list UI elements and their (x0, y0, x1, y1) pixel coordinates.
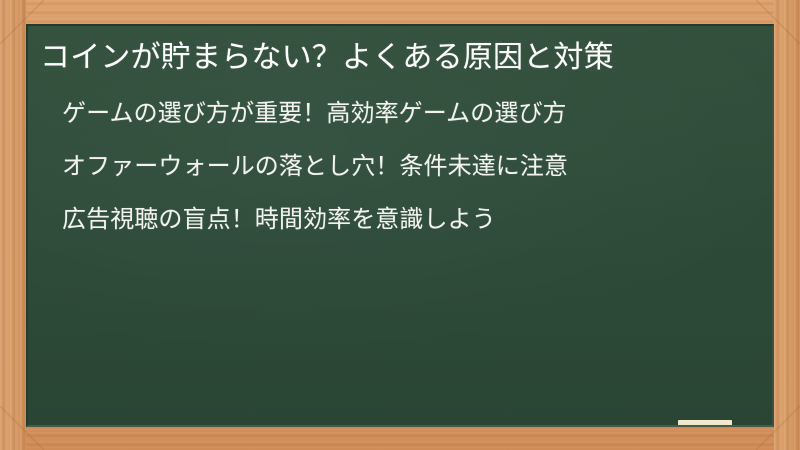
chalkboard-content: コインが貯まらない？よくある原因と対策 ゲームの選び方が重要！高効率ゲームの選び… (28, 26, 772, 425)
chalk-stick-icon (678, 420, 732, 427)
chalkboard-surface: コインが貯まらない？よくある原因と対策 ゲームの選び方が重要！高効率ゲームの選び… (26, 24, 774, 427)
wood-frame-left (0, 0, 26, 450)
topic-list: ゲームの選び方が重要！高効率ゲームの選び方 オファーウォールの落とし穴！条件未達… (40, 102, 754, 232)
topic-item-3: 広告視聴の盲点！時間効率を意識しよう (62, 208, 754, 232)
slide-title: コインが貯まらない？よくある原因と対策 (40, 34, 730, 78)
topic-item-1: ゲームの選び方が重要！高効率ゲームの選び方 (62, 102, 754, 126)
topic-item-2: オファーウォールの落とし穴！条件未達に注意 (62, 155, 754, 179)
wood-frame-right (774, 0, 800, 450)
chalkboard-slide: コインが貯まらない？よくある原因と対策 ゲームの選び方が重要！高効率ゲームの選び… (0, 0, 800, 450)
